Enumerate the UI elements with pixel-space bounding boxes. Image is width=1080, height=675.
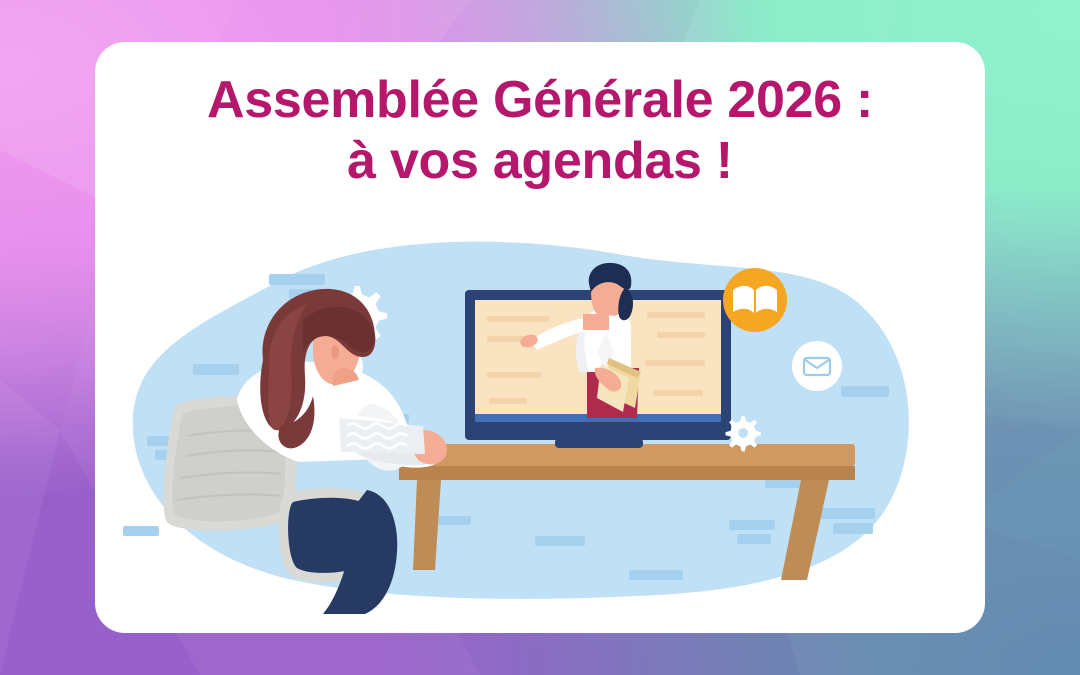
- gear-icon-small: [725, 416, 760, 451]
- illustration: [117, 240, 963, 620]
- illustration-svg: [117, 240, 963, 620]
- white-content-card: Assemblée Générale 2026 : à vos agendas …: [95, 42, 985, 633]
- desktop-monitor: [465, 263, 731, 448]
- page-title: Assemblée Générale 2026 : à vos agendas …: [95, 70, 985, 193]
- envelope-icon: [792, 341, 842, 391]
- poster-canvas: Assemblée Générale 2026 : à vos agendas …: [0, 0, 1080, 675]
- headline-line-1: Assemblée Générale 2026 :: [95, 70, 985, 131]
- open-book-icon: [723, 268, 787, 332]
- headline-line-2: à vos agendas !: [95, 131, 985, 192]
